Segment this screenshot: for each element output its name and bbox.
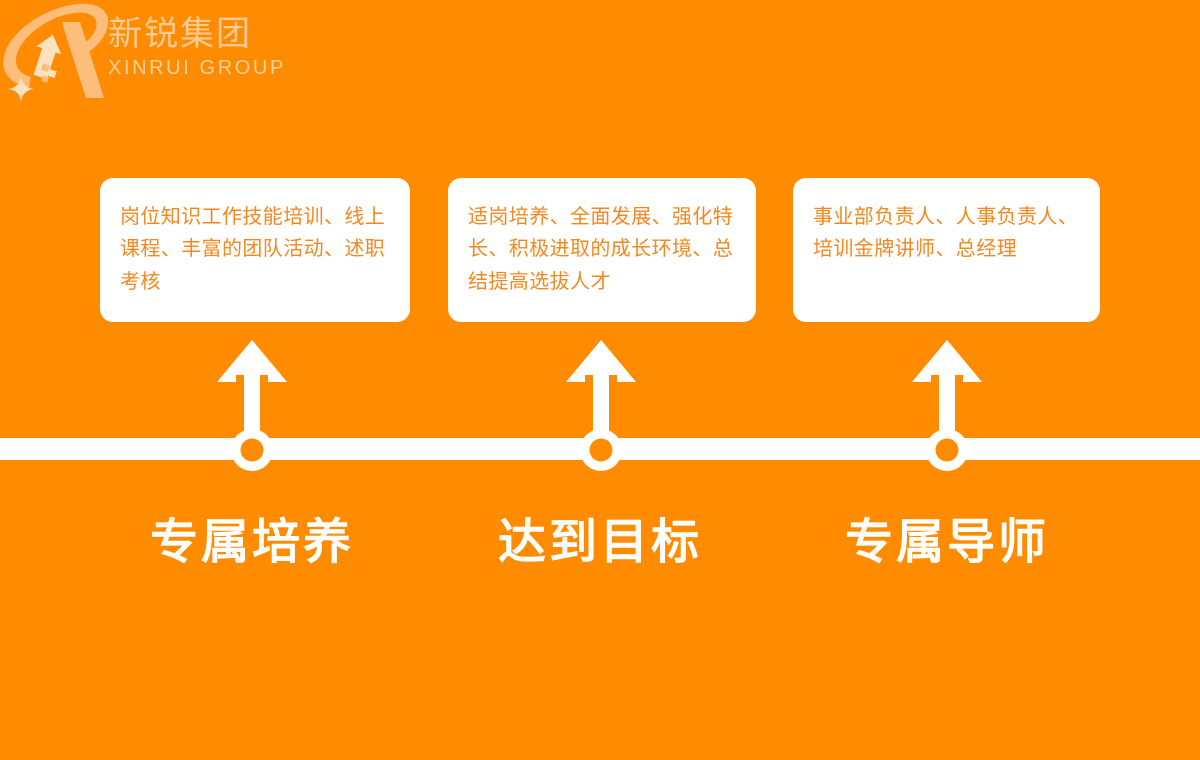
up-arrow-icon bbox=[217, 340, 287, 432]
stage-label-1: 专属培养 bbox=[82, 512, 422, 572]
stage-marker-3 bbox=[887, 337, 1007, 472]
stage-card-1-text: 岗位知识工作技能培训、线上课程、丰富的团队活动、述职考核 bbox=[120, 200, 390, 297]
stage-label-2: 达到目标 bbox=[430, 512, 770, 572]
timeline-node-icon bbox=[926, 429, 968, 471]
brand-name-chinese: 新锐集团 bbox=[108, 14, 288, 54]
stage-card-3-text: 事业部负责人、人事负责人、培训金牌讲师、总经理 bbox=[813, 200, 1080, 265]
stage-marker-1 bbox=[192, 337, 312, 472]
brand-logo: 新锐集团 XINRUI GROUP bbox=[0, 0, 300, 105]
stage-card-3: 事业部负责人、人事负责人、培训金牌讲师、总经理 bbox=[793, 178, 1100, 322]
up-arrow-icon bbox=[566, 340, 636, 432]
timeline-node-icon bbox=[580, 429, 622, 471]
up-arrow-icon bbox=[912, 340, 982, 432]
stylized-r-rocket-mark-icon bbox=[0, 0, 112, 106]
stage-card-2: 适岗培养、全面发展、强化特长、积极进取的成长环境、总结提高选拔人才 bbox=[448, 178, 756, 322]
stage-marker-2 bbox=[541, 337, 661, 472]
stage-label-3: 专属导师 bbox=[777, 512, 1117, 572]
brand-logo-text: 新锐集团 XINRUI GROUP bbox=[108, 14, 288, 81]
brand-name-english: XINRUI GROUP bbox=[108, 56, 288, 81]
stage-card-2-text: 适岗培养、全面发展、强化特长、积极进取的成长环境、总结提高选拔人才 bbox=[468, 200, 736, 297]
stage-card-1: 岗位知识工作技能培训、线上课程、丰富的团队活动、述职考核 bbox=[100, 178, 410, 322]
poster-canvas: 新锐集团 XINRUI GROUP 岗位知识工作技能培训、线上课程、丰富的团队活… bbox=[0, 0, 1200, 760]
timeline-node-icon bbox=[231, 429, 273, 471]
